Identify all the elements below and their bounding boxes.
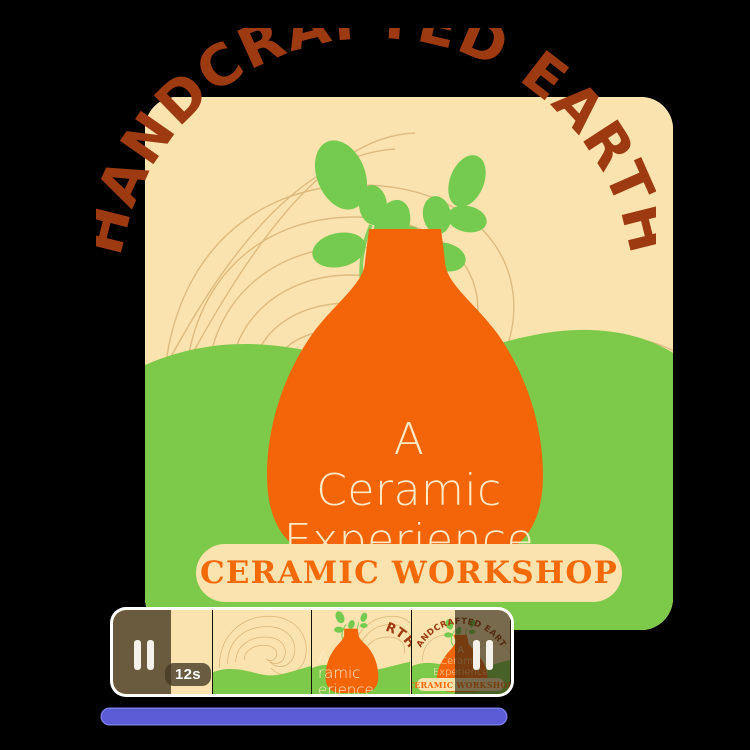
list-item[interactable]	[213, 610, 313, 694]
svg-text:RTH: RTH	[383, 620, 412, 652]
frame-art-2	[213, 610, 311, 694]
pause-icon[interactable]	[134, 640, 154, 670]
screenshot-root: A Ceramic Experience CERAMIC WORKSHOP HA…	[0, 0, 750, 750]
filmstrip-frames[interactable]: RTH A ramic erience	[113, 610, 511, 694]
frame3-line-1: A	[318, 649, 374, 666]
frame3-line-2: ramic	[318, 665, 374, 682]
ceramic-workshop-banner: CERAMIC WORKSHOP	[196, 544, 622, 602]
playback-progress-bar[interactable]	[102, 709, 506, 724]
pause-icon[interactable]	[473, 640, 493, 670]
list-item[interactable]: RTH A ramic erience	[312, 610, 412, 694]
progress-fill	[102, 709, 506, 724]
frame3-vase-text: A ramic erience	[318, 649, 374, 694]
timeline-filmstrip[interactable]: RTH A ramic erience	[110, 607, 514, 697]
frame3-line-3: erience	[318, 682, 374, 694]
design-canvas-card[interactable]: A Ceramic Experience CERAMIC WORKSHOP	[145, 97, 673, 630]
banner-label: CERAMIC WORKSHOP	[200, 555, 618, 591]
duration-badge: 12s	[165, 663, 211, 686]
